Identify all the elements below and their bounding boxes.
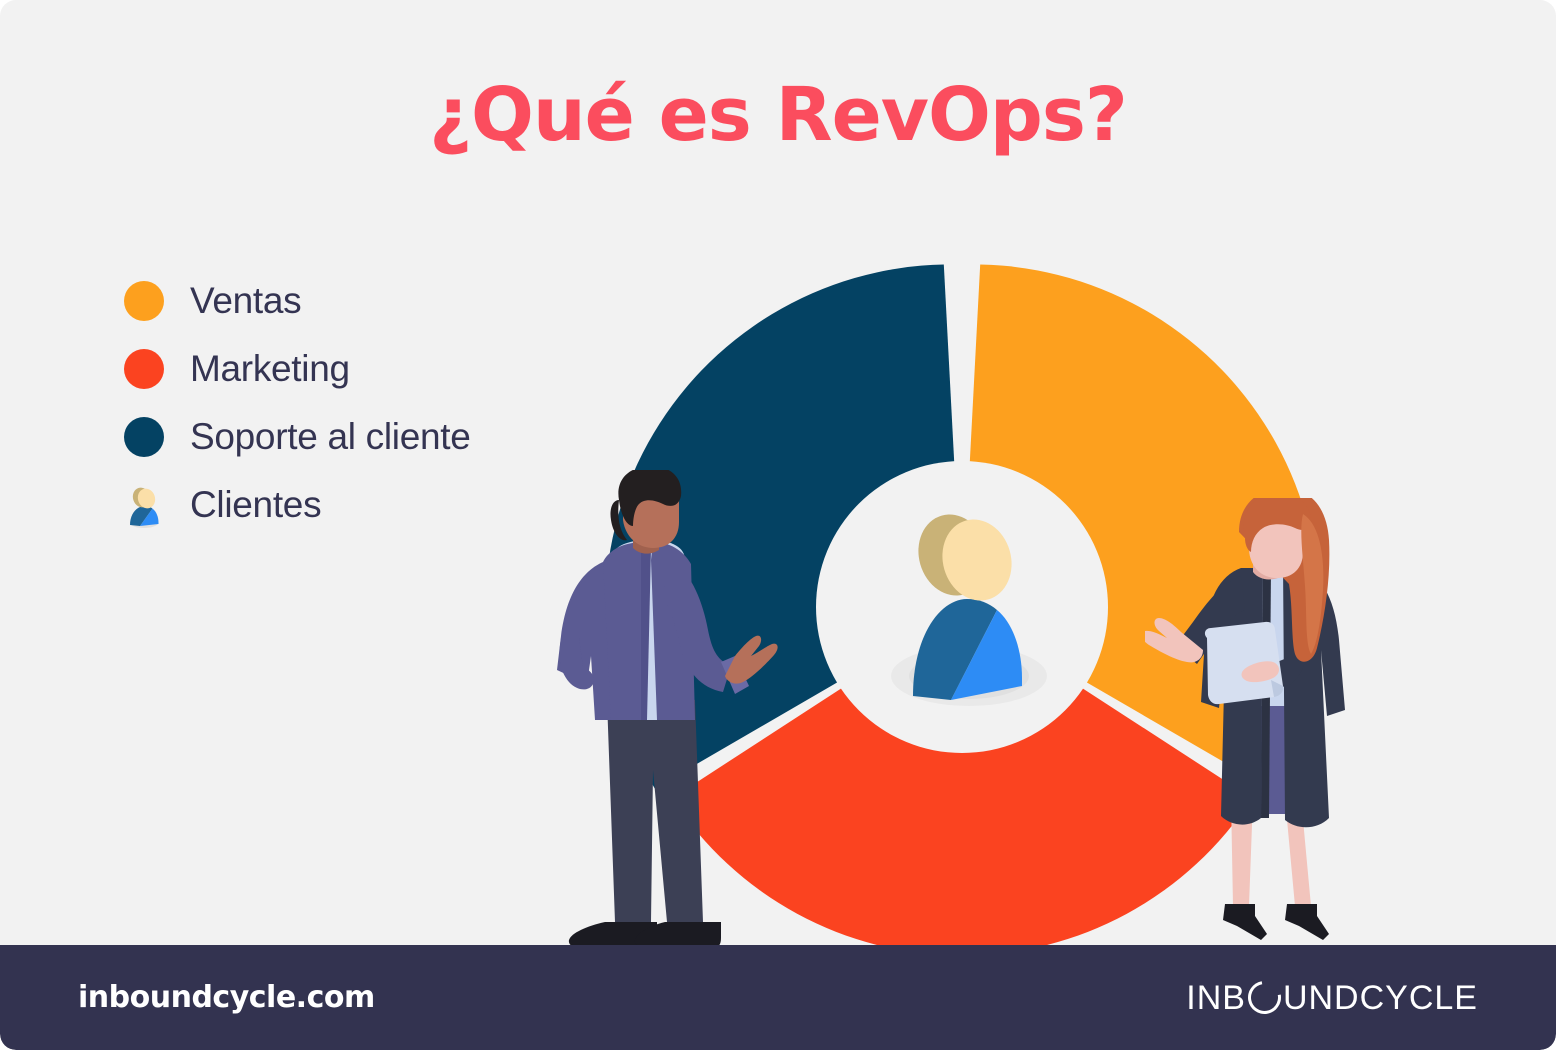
chart-legend: Ventas Marketing Soporte al cliente bbox=[124, 278, 471, 528]
inboundcycle-logo[interactable]: INB UNDCYCLE bbox=[1186, 981, 1478, 1015]
illustration-man-presenting bbox=[545, 470, 785, 955]
legend-item-soporte-al-cliente[interactable]: Soporte al cliente bbox=[124, 414, 471, 460]
illustration-woman-with-clipboard bbox=[1145, 498, 1375, 955]
legend-item-marketing[interactable]: Marketing bbox=[124, 346, 471, 392]
legend-item-label: Marketing bbox=[190, 348, 350, 390]
logo-prefix: INB bbox=[1186, 981, 1246, 1015]
logo-suffix: UNDCYCLE bbox=[1283, 981, 1478, 1015]
page-title: ¿Qué es RevOps? bbox=[0, 72, 1556, 158]
center-avatar bbox=[877, 500, 1057, 715]
legend-item-label: Ventas bbox=[190, 280, 301, 322]
person-3d-icon bbox=[124, 485, 164, 525]
legend-item-label: Soporte al cliente bbox=[190, 416, 471, 458]
circle-swatch-icon bbox=[124, 417, 164, 457]
legend-item-clientes[interactable]: Clientes bbox=[124, 482, 471, 528]
circle-swatch-icon bbox=[124, 349, 164, 389]
infographic-canvas: ¿Qué es RevOps? Ventas Marketing Soporte… bbox=[0, 0, 1556, 1050]
circle-swatch-icon bbox=[124, 281, 164, 321]
footer-bar: inboundcycle.com INB UNDCYCLE bbox=[0, 945, 1556, 1050]
legend-item-ventas[interactable]: Ventas bbox=[124, 278, 471, 324]
legend-item-label: Clientes bbox=[190, 484, 321, 526]
footer-url[interactable]: inboundcycle.com bbox=[78, 980, 375, 1015]
open-circle-o-icon bbox=[1241, 975, 1287, 1021]
